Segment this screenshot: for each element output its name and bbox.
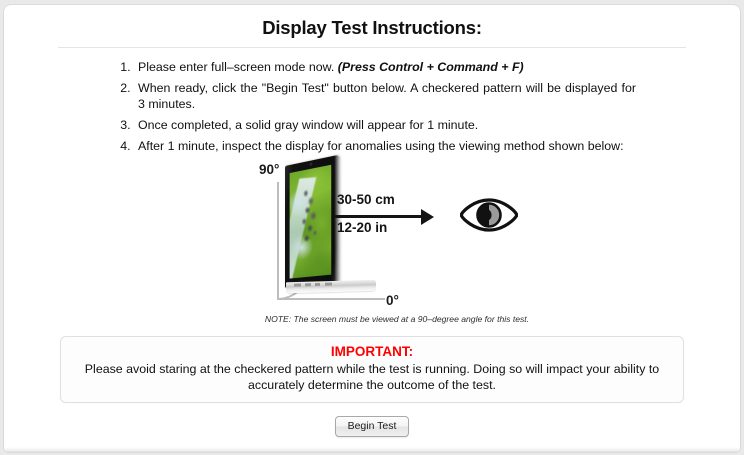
webcam-icon [309, 163, 312, 167]
viewing-distance-annotation: 30-50 cm 12-20 in [335, 192, 453, 246]
instruction-text-3: Once completed, a solid gray window will… [138, 118, 478, 132]
viewing-method-diagram: 90° 0° [247, 162, 547, 332]
instruction-text-1: Please enter full–screen mode now. [138, 60, 338, 74]
instruction-text-4: After 1 minute, inspect the display for … [138, 139, 624, 153]
instruction-item-4: After 1 minute, inspect the display for … [134, 138, 636, 154]
important-body-text: Please avoid staring at the checkered pa… [77, 361, 667, 393]
title-divider [58, 47, 686, 48]
important-heading: IMPORTANT: [77, 344, 667, 359]
diagram-note: NOTE: The screen must be viewed at a 90–… [247, 314, 547, 324]
distance-arrow-head-icon [421, 209, 434, 225]
angle-90-label: 90° [259, 162, 279, 177]
important-warning-box: IMPORTANT: Please avoid staring at the c… [60, 336, 684, 403]
angle-0-label: 0° [386, 293, 399, 308]
action-button-row: Begin Test [4, 416, 740, 437]
begin-test-button[interactable]: Begin Test [335, 416, 410, 437]
instruction-text-2: When ready, click the "Begin Test" butto… [138, 81, 636, 111]
instruction-item-2: When ready, click the "Begin Test" butto… [134, 80, 636, 112]
eye-icon [460, 198, 518, 232]
display-test-window: Display Test Instructions: Please enter … [4, 5, 740, 452]
distance-metric-label: 30-50 cm [337, 192, 395, 207]
distance-arrow-line [335, 215, 424, 218]
laptop-base [286, 281, 376, 293]
viewing-method-diagram-area: 90° 0° [4, 162, 740, 332]
instruction-emphasis-1: (Press Control + Command + F) [338, 60, 524, 74]
laptop-lid [285, 155, 339, 288]
instruction-item-3: Once completed, a solid gray window will… [134, 117, 636, 133]
laptop-screen [290, 165, 332, 279]
laptop-base-bottom [286, 285, 376, 294]
window-content: Display Test Instructions: Please enter … [4, 5, 740, 452]
page-title: Display Test Instructions: [4, 5, 740, 39]
instruction-item-1: Please enter full–screen mode now. (Pres… [134, 59, 636, 75]
wallpaper-rocks [290, 165, 332, 279]
distance-imperial-label: 12-20 in [337, 220, 387, 235]
instruction-list: Please enter full–screen mode now. (Pres… [108, 59, 636, 154]
